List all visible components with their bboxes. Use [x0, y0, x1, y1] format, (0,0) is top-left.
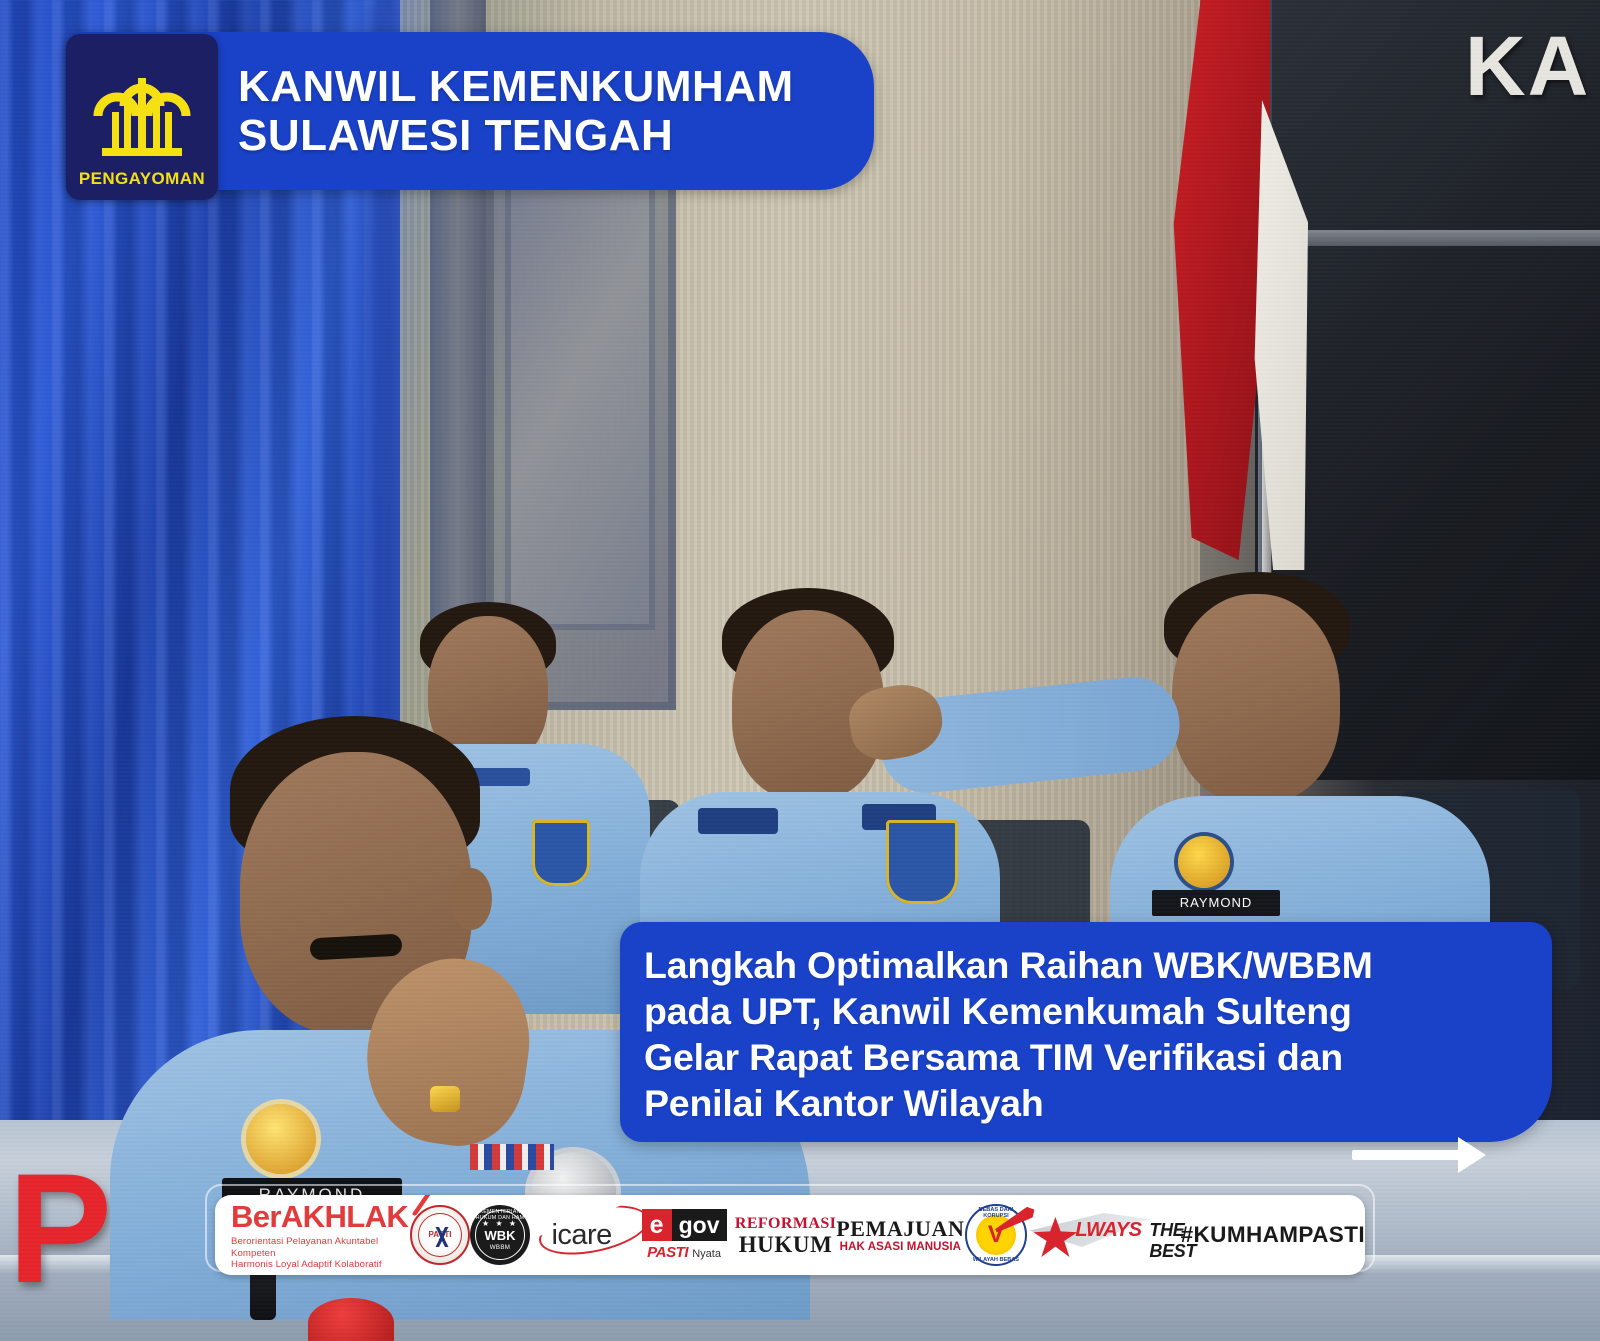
next-arrow-icon[interactable] [1352, 1150, 1460, 1160]
hashtag-label: #KUMHAMPASTI [1181, 1222, 1365, 1248]
nametag-right: RAYMOND [1152, 890, 1280, 916]
wbk-label: WBK [485, 1229, 516, 1242]
head [1172, 594, 1340, 802]
uniform-badge [1178, 836, 1230, 888]
logo-berakhlak: BerAKHLAK Berorientasi Pelayanan Akuntab… [215, 1195, 410, 1275]
uniform-pin [246, 1104, 316, 1174]
logo-icare: icare [530, 1195, 633, 1275]
always-word2: THE BEST [1149, 1220, 1196, 1262]
logo-word: PENGAYOMAN [66, 169, 218, 189]
wbk-sublabel: WBBM [490, 1244, 510, 1251]
logo-bar: BerAKHLAK Berorientasi Pelayanan Akuntab… [215, 1195, 1365, 1275]
berakhlak-wordmark: BerAKHLAK [231, 1199, 408, 1235]
wbk-ring-text: KEMENTERIAN HUKUM DAN HAM [470, 1209, 530, 1221]
indonesian-flag [1158, 0, 1308, 575]
service-ribbons [470, 1144, 554, 1170]
pemajuan-line2: HAK ASASI MANUSIA [840, 1241, 961, 1253]
logo-pemajuan-ham: PEMAJUAN HAK ASASI MANUSIA [836, 1195, 964, 1275]
header-title-line2: SULAWESI TENGAH [238, 111, 794, 160]
door-panel-inner [505, 180, 655, 630]
logo-always-the-best: LWAYS THE BEST [1027, 1195, 1180, 1275]
reformasi-line1: REFORMASI [735, 1215, 836, 1233]
berakhlak-text: BerAKHLAK [231, 1199, 408, 1234]
wbbm-seal-circle: BEBAS DARI KORUPSI WILAYAH BEBAS V [965, 1204, 1027, 1266]
pasti-mountain-icon [425, 1227, 459, 1247]
egov-nyata: Nyata [692, 1248, 721, 1260]
gold-ring [430, 1086, 460, 1112]
flag-red-stripe [1158, 0, 1270, 560]
egov-mark: e gov [642, 1209, 727, 1241]
pengayoman-shoulder-patch [886, 820, 958, 904]
logo-wbbm-korupsi-seal: BEBAS DARI KORUPSI WILAYAH BEBAS V [964, 1195, 1027, 1275]
berakhlak-subtitle: Berorientasi Pelayanan Akuntabel Kompete… [231, 1236, 410, 1272]
egov-pasti: PASTI [647, 1244, 688, 1261]
wbk-seal-circle: KEMENTERIAN HUKUM DAN HAM ★ ★ ★ WBK WBBM [470, 1205, 530, 1265]
caption-banner: Langkah Optimalkan Raihan WBK/WBBM pada … [620, 922, 1552, 1142]
egov-subtitle: PASTI Nyata [647, 1244, 721, 1261]
berakhlak-sub-line2: Harmonis Loyal Adaptif Kolaboratif [231, 1259, 410, 1271]
always-word1: LWAYS [1075, 1219, 1141, 1242]
board-text: KA [1465, 18, 1590, 115]
caption-text: Langkah Optimalkan Raihan WBK/WBBM pada … [644, 942, 1526, 1127]
microphone [308, 1298, 394, 1341]
poster-canvas: KA [0, 0, 1600, 1341]
logo-reformasi-hukum: REFORMASI HUKUM [735, 1195, 836, 1275]
egov-gov: gov [672, 1209, 727, 1241]
logo-wbk-seal: KEMENTERIAN HUKUM DAN HAM ★ ★ ★ WBK WBBM [470, 1195, 530, 1275]
board-rail [1272, 230, 1600, 246]
ear [450, 868, 492, 930]
wbbm-ring-bottom: WILAYAH BEBAS [967, 1257, 1025, 1263]
berakhlak-sub-line1: Berorientasi Pelayanan Akuntabel Kompete… [231, 1236, 410, 1260]
kemenkumham-logo: PENGAYOMAN [66, 34, 218, 200]
header-title: KANWIL KEMENKUMHAM SULAWESI TENGAH [238, 62, 794, 161]
logo-kumhampasti-hashtag: #KUMHAMPASTI [1181, 1195, 1365, 1275]
pasti-seal-circle: PASTI [410, 1205, 470, 1265]
logo-egov: e gov PASTI Nyata [633, 1195, 735, 1275]
pemajuan-line1: PEMAJUAN [836, 1218, 964, 1240]
pengayoman-banyan-icon [72, 38, 212, 170]
reformasi-line2: HUKUM [739, 1233, 833, 1256]
header-title-line1: KANWIL KEMENKUMHAM [238, 62, 794, 111]
